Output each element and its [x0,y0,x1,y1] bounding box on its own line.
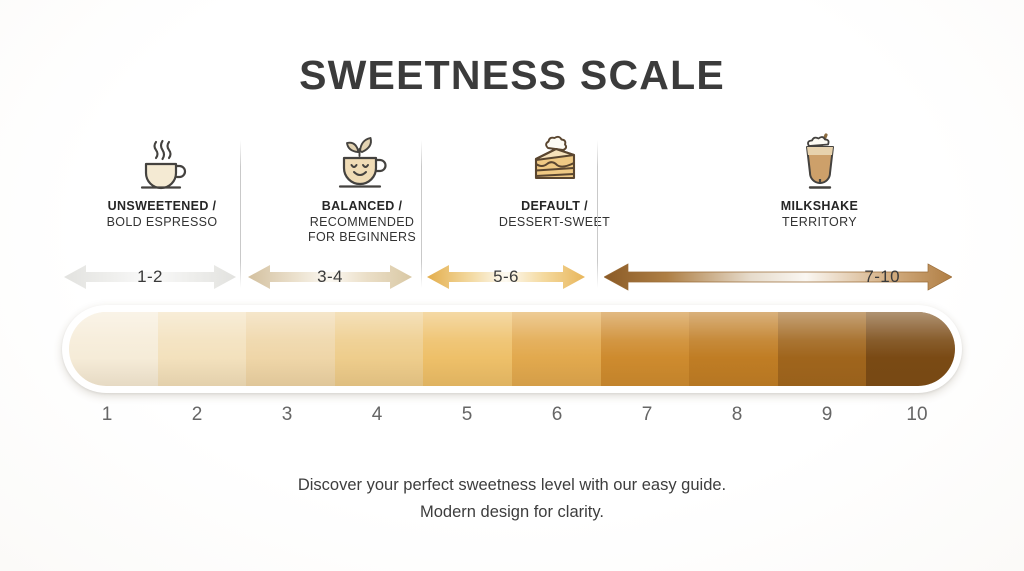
bar-segment-6[interactable] [512,312,601,386]
bar-segment-7[interactable] [601,312,690,386]
coffee-cup-icon [62,132,262,190]
tea-cup-smile-leaf-icon [267,132,457,190]
category-unsweetened[interactable]: UNSWEETENED / BOLD ESPRESSO [62,132,262,230]
scale-number: 9 [782,404,872,432]
cake-slice-icon [462,132,647,190]
category-subtitle-line1: TERRITORY [677,215,962,231]
bar-segment-10[interactable] [866,312,955,386]
scale-number: 7 [602,404,692,432]
category-title: UNSWEETENED / [62,199,262,215]
scale-number: 1 [62,404,152,432]
bar-segment-4[interactable] [335,312,424,386]
scale-number: 6 [512,404,602,432]
range-arrow-7-10: 7-10 [604,262,952,292]
range-label: 7-10 [604,262,952,292]
category-title: MILKSHAKE [677,199,962,215]
category-default[interactable]: DEFAULT / DESSERT-SWEET [462,132,647,230]
scale-number: 8 [692,404,782,432]
category-milkshake[interactable]: MILKSHAKE TERRITORY [677,132,962,230]
category-group: UNSWEETENED / BOLD ESPRESSO [62,132,962,252]
bar-segment-3[interactable] [246,312,335,386]
category-subtitle-line2: FOR BEGINNERS [267,230,457,246]
scale-number-row: 1 2 3 4 5 6 7 8 9 10 [62,404,962,432]
page-title: SWEETNESS SCALE [0,52,1024,99]
range-arrow-group: 1-2 3-4 [0,262,1024,296]
bar-segment-5[interactable] [423,312,512,386]
sweetness-gradient-bar[interactable] [62,305,962,393]
sweetness-scale-infographic: SWEETNESS SCALE UNSWEETENED / BOL [0,0,1024,571]
range-label: 5-6 [427,262,585,292]
milkshake-glass-icon [677,132,962,190]
footer-text: Discover your perfect sweetness level wi… [0,472,1024,526]
bar-segment-1[interactable] [69,312,158,386]
category-subtitle-line1: RECOMMENDED [267,215,457,231]
category-label: BALANCED / RECOMMENDED FOR BEGINNERS [267,199,457,246]
category-label: MILKSHAKE TERRITORY [677,199,962,230]
category-label: UNSWEETENED / BOLD ESPRESSO [62,199,262,230]
scale-number: 2 [152,404,242,432]
range-arrow-1-2: 1-2 [64,262,236,292]
category-label: DEFAULT / DESSERT-SWEET [462,199,647,230]
gradient-bar-track [69,312,955,386]
category-subtitle-line1: BOLD ESPRESSO [62,215,262,231]
category-title: DEFAULT / [462,199,647,215]
category-balanced[interactable]: BALANCED / RECOMMENDED FOR BEGINNERS [267,132,457,246]
footer-line-2: Modern design for clarity. [0,499,1024,526]
range-label: 3-4 [248,262,412,292]
footer-line-1: Discover your perfect sweetness level wi… [0,472,1024,499]
bar-segment-2[interactable] [158,312,247,386]
scale-number: 10 [872,404,962,432]
range-label: 1-2 [64,262,236,292]
scale-number: 3 [242,404,332,432]
category-title: BALANCED / [267,199,457,215]
range-arrow-3-4: 3-4 [248,262,412,292]
scale-number: 5 [422,404,512,432]
scale-number: 4 [332,404,422,432]
category-subtitle-line1: DESSERT-SWEET [462,215,647,231]
bar-segment-9[interactable] [778,312,867,386]
bar-segment-8[interactable] [689,312,778,386]
range-arrow-5-6: 5-6 [427,262,585,292]
